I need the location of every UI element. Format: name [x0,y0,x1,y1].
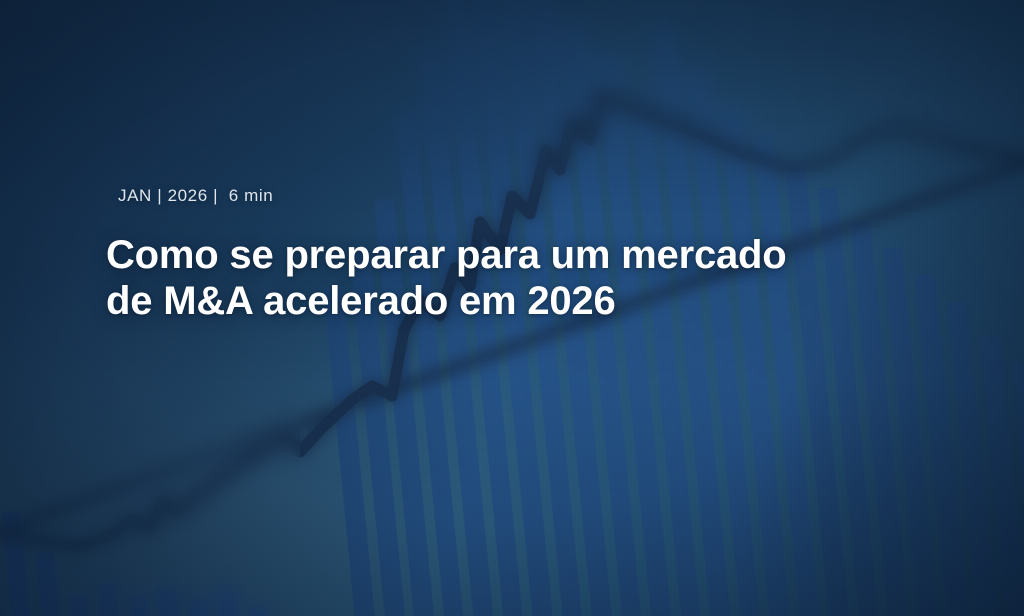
hero-content: JAN | 2026 | 6 min Como se preparar para… [106,186,906,325]
hero-banner: JAN | 2026 | 6 min Como se preparar para… [0,0,1024,616]
page-title-line-2: de M&A acelerado em 2026 [106,278,866,324]
article-meta: JAN | 2026 | 6 min [118,186,906,206]
page-title-line-1: Como se preparar para um mercado [106,232,866,278]
page-title: Como se preparar para um mercado de M&A … [106,232,866,325]
